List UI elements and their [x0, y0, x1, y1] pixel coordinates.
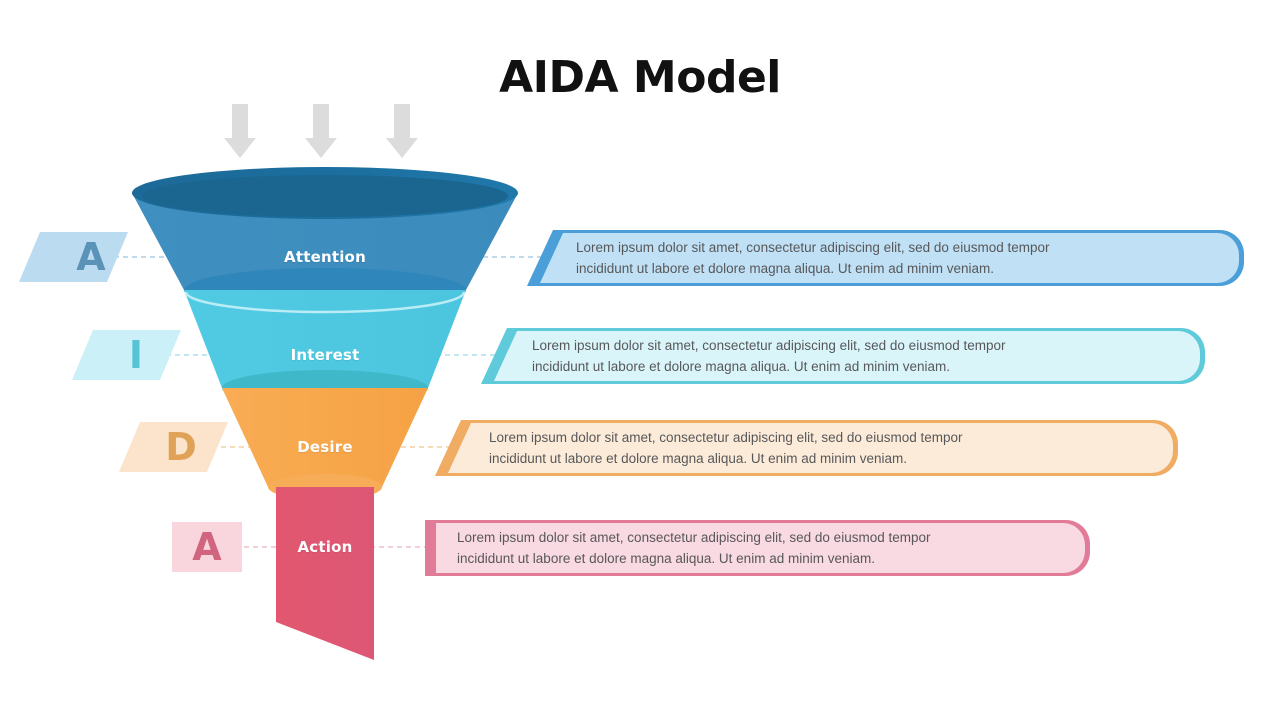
funnel-label-action: Action — [298, 538, 353, 556]
funnel-label-interest: Interest — [291, 346, 360, 364]
slide-canvas: AIDA Model — [0, 0, 1280, 720]
down-arrow-icon — [224, 104, 256, 158]
badge-letter-attention: A — [76, 235, 105, 279]
badge-interest[interactable] — [72, 330, 181, 380]
description-text-attention: Lorem ipsum dolor sit amet, consectetur … — [576, 237, 1216, 279]
inflow-arrows — [224, 104, 418, 158]
down-arrow-icon — [305, 104, 337, 158]
funnel-label-desire: Desire — [297, 438, 352, 456]
description-text-action: Lorem ipsum dolor sit amet, consectetur … — [457, 527, 1097, 569]
funnel-section-action[interactable] — [276, 487, 374, 660]
badge-letter-action: A — [192, 525, 221, 569]
badge-letter-desire: D — [165, 425, 197, 469]
description-text-desire: Lorem ipsum dolor sit amet, consectetur … — [489, 427, 1129, 469]
badge-attention[interactable] — [19, 232, 128, 282]
funnel-label-attention: Attention — [284, 248, 366, 266]
down-arrow-icon — [386, 104, 418, 158]
badge-letter-interest: I — [129, 333, 143, 377]
description-text-interest: Lorem ipsum dolor sit amet, consectetur … — [532, 335, 1172, 377]
